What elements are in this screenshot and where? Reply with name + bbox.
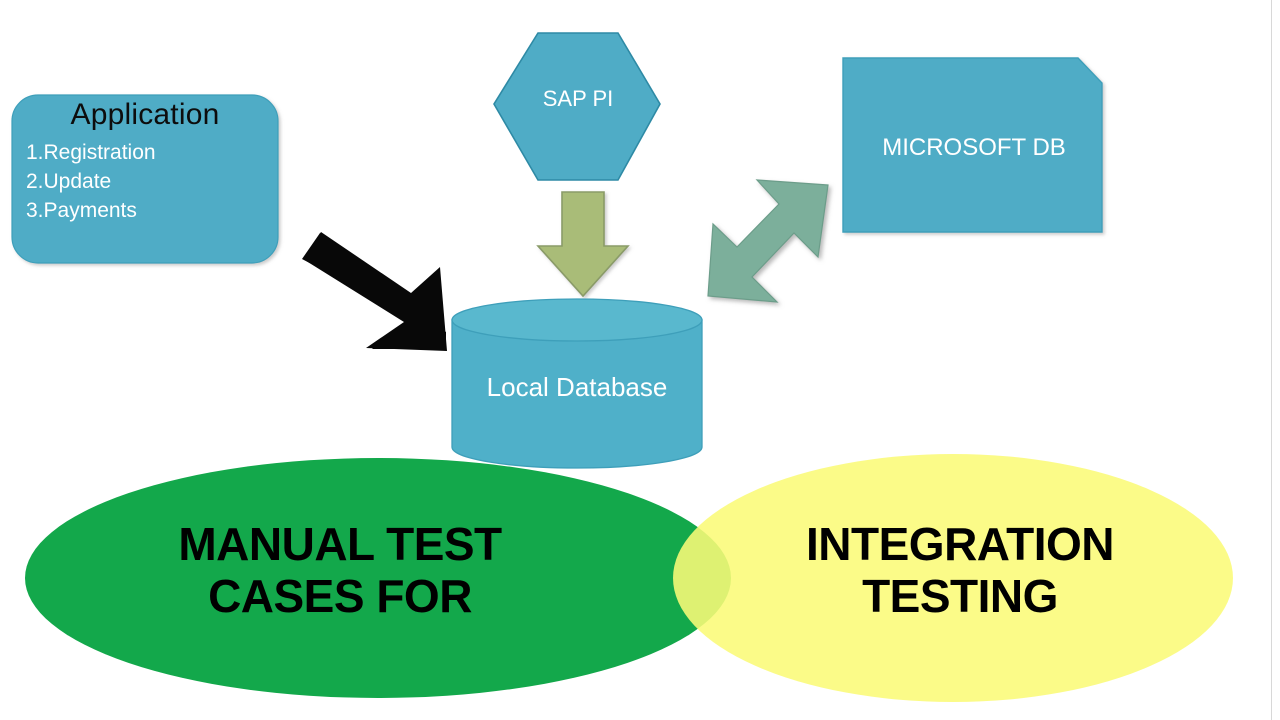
diagram-shapes bbox=[0, 0, 1280, 720]
sap-pi-hexagon-shape[interactable] bbox=[494, 33, 660, 180]
app-to-local-db-arrow-body bbox=[303, 232, 447, 351]
slide-right-edge-line bbox=[1271, 0, 1272, 720]
local-database-top bbox=[452, 299, 702, 341]
local-db-to-microsoft-db-arrow-shape[interactable] bbox=[708, 180, 828, 302]
application-box-shape[interactable] bbox=[12, 95, 278, 263]
yellow-ellipse-shape[interactable] bbox=[673, 454, 1233, 702]
green-ellipse-shape[interactable] bbox=[25, 458, 731, 698]
local-database-body[interactable] bbox=[452, 320, 702, 468]
sap-to-local-db-arrow-shape[interactable] bbox=[538, 192, 628, 296]
diagram-canvas: Application 1.Registration 2.Update 3.Pa… bbox=[0, 0, 1280, 720]
microsoft-db-shape[interactable] bbox=[843, 58, 1102, 232]
